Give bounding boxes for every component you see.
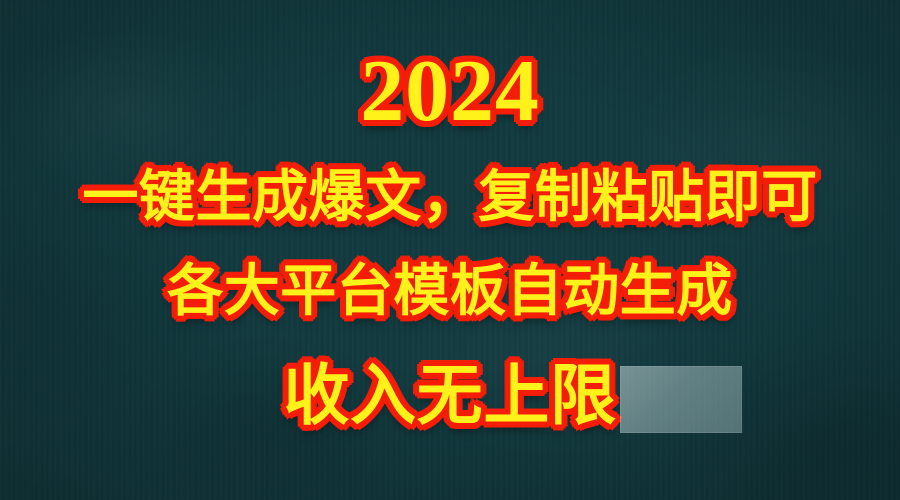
headline-line-3: 收入无上限 bbox=[0, 362, 900, 428]
headline-stack: 2024 一键生成爆文，复制粘贴即可 各大平台模板自动生成 收入无上限 bbox=[0, 0, 900, 500]
promo-banner: 2024 一键生成爆文，复制粘贴即可 各大平台模板自动生成 收入无上限 bbox=[0, 0, 900, 500]
headline-year: 2024 bbox=[0, 48, 900, 136]
redaction-rectangle bbox=[620, 366, 742, 433]
headline-line-1: 一键生成爆文，复制粘贴即可 bbox=[0, 169, 900, 225]
headline-line-2: 各大平台模板自动生成 bbox=[0, 263, 900, 319]
